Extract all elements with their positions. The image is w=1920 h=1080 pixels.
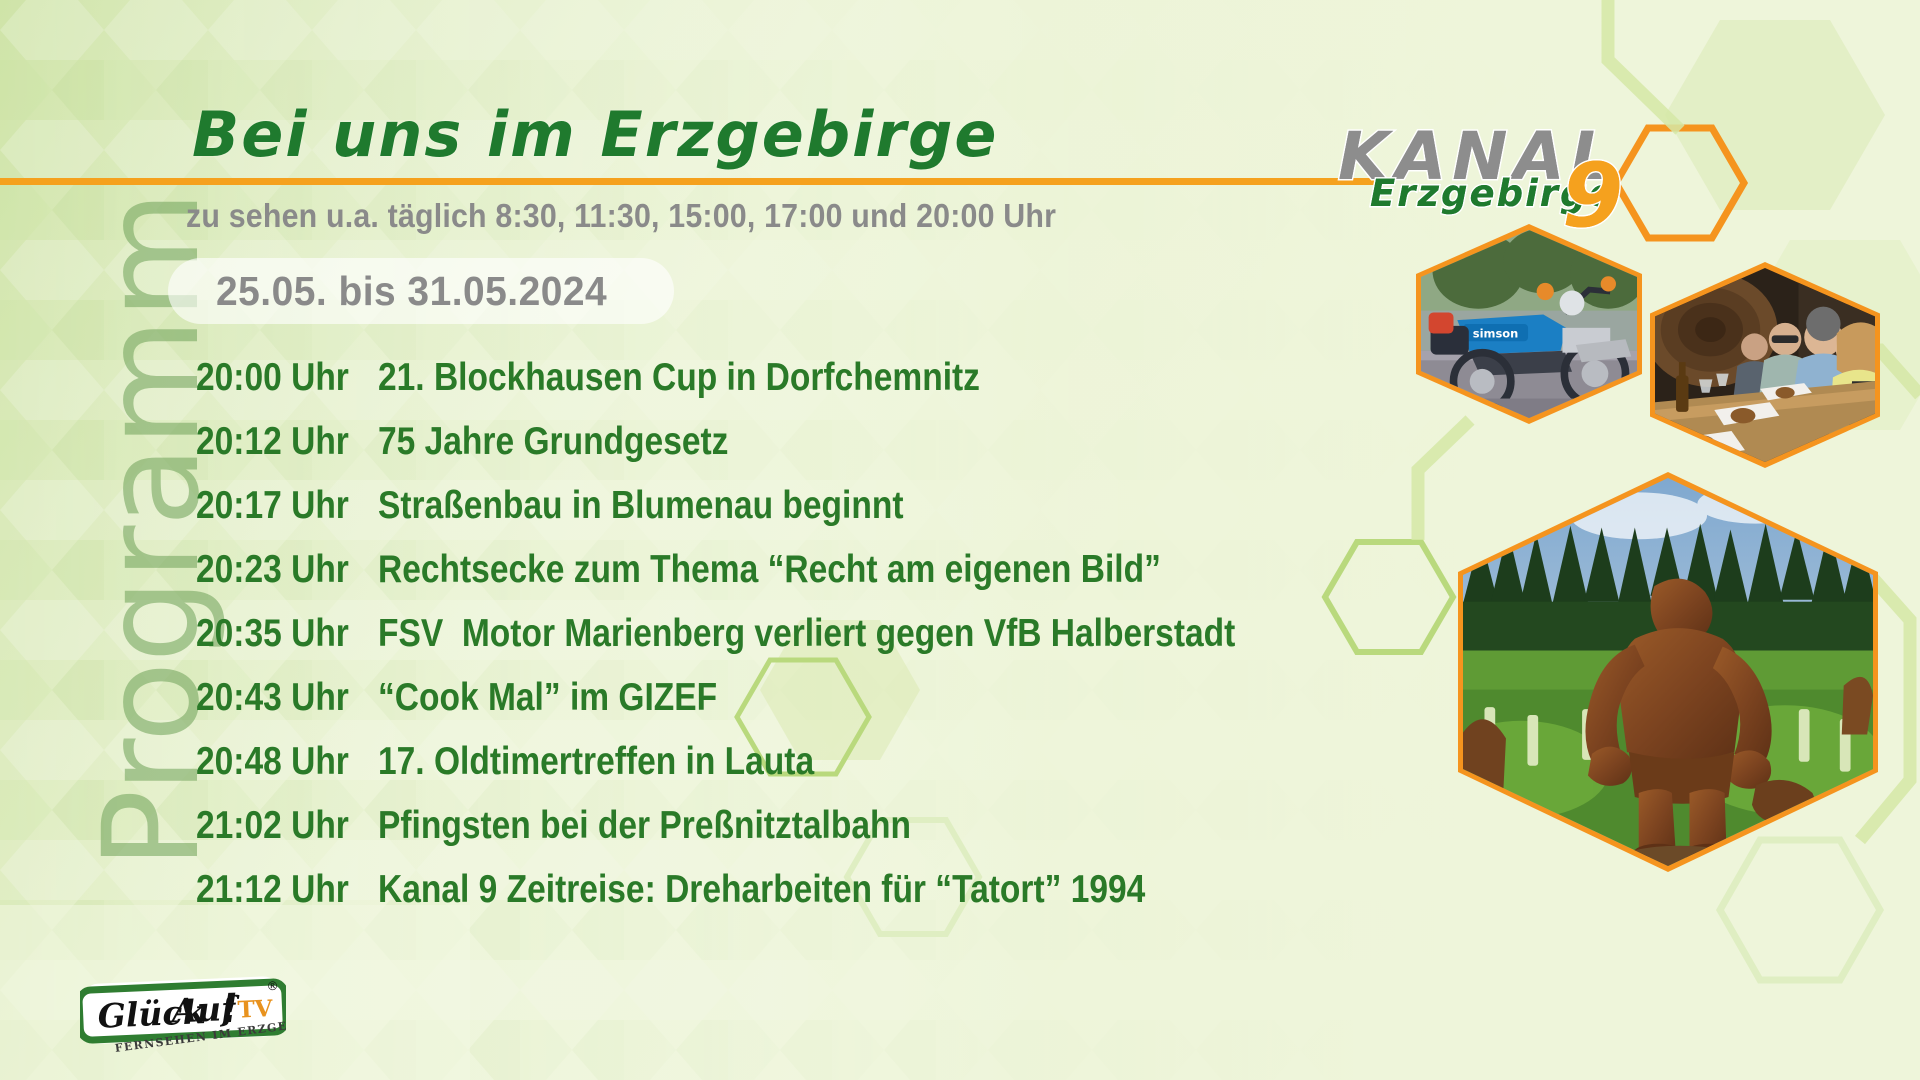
date-range-badge: 25.05. bis 31.05.2024 bbox=[168, 258, 674, 324]
page-title: Bei uns im Erzgebirge bbox=[192, 98, 998, 171]
program-time: 20:00 Uhr bbox=[196, 356, 353, 400]
program-row: 20:23 Uhr Rechtsecke zum Thema “Recht am… bbox=[196, 548, 1336, 612]
program-title: Pfingsten bei der Preßnitztalbahn bbox=[378, 804, 911, 848]
program-time: 20:35 Uhr bbox=[196, 612, 353, 656]
program-title: Straßenbau in Blumenau beginnt bbox=[378, 484, 904, 528]
program-row: 20:12 Uhr 75 Jahre Grundgesetz bbox=[196, 420, 1336, 484]
program-time: 20:12 Uhr bbox=[196, 420, 353, 464]
program-row: 20:00 Uhr 21. Blockhausen Cup in Dorfche… bbox=[196, 356, 1336, 420]
program-title: 17. Oldtimertreffen in Lauta bbox=[378, 740, 814, 784]
dinner-photo bbox=[1650, 262, 1880, 468]
program-time: 20:43 Uhr bbox=[196, 676, 353, 720]
program-title: Rechtsecke zum Thema “Recht am eigenen B… bbox=[378, 548, 1161, 592]
program-title: 75 Jahre Grundgesetz bbox=[378, 420, 728, 464]
header-divider-rule bbox=[0, 178, 1390, 185]
kanal9-logo: KANAL KANAL Erzgebirge Erzgebirge 9 9 bbox=[1338, 118, 1638, 228]
troll-photo bbox=[1458, 472, 1878, 872]
program-row: 20:43 Uhr “Cook Mal” im GIZEF bbox=[196, 676, 1336, 740]
glueckauf-tv-logo: Glück Auf ! TV ® FERNSEHEN IM ERZGEBIRGE bbox=[80, 972, 286, 1068]
program-row: 21:02 Uhr Pfingsten bei der Preßnitztalb… bbox=[196, 804, 1336, 868]
program-row: 20:48 Uhr 17. Oldtimertreffen in Lauta bbox=[196, 740, 1336, 804]
program-row: 20:17 Uhr Straßenbau in Blumenau beginnt bbox=[196, 484, 1336, 548]
broadcast-times-subtitle: zu sehen u.a. täglich 8:30, 11:30, 15:00… bbox=[186, 197, 1056, 235]
hex-photo-inner bbox=[1463, 478, 1873, 866]
program-time: 20:17 Uhr bbox=[196, 484, 353, 528]
moped-photo: simson bbox=[1416, 224, 1642, 424]
program-title: 21. Blockhausen Cup in Dorfchemnitz bbox=[378, 356, 980, 400]
program-time: 21:02 Uhr bbox=[196, 804, 353, 848]
program-title: FSV Motor Marienberg verliert gegen VfB … bbox=[378, 612, 1235, 656]
date-range-text: 25.05. bis 31.05.2024 bbox=[216, 268, 607, 315]
program-row: 20:35 Uhr FSV Motor Marienberg verliert … bbox=[196, 612, 1336, 676]
tv-mark: TV bbox=[237, 995, 274, 1024]
program-title: “Cook Mal” im GIZEF bbox=[378, 676, 717, 720]
svg-text:simson: simson bbox=[1473, 326, 1519, 340]
registered-mark: ® bbox=[266, 979, 279, 994]
program-row: 21:12 Uhr Kanal 9 Zeitreise: Dreharbeite… bbox=[196, 868, 1336, 932]
program-title: Kanal 9 Zeitreise: Dreharbeiten für “Tat… bbox=[378, 868, 1145, 912]
program-time: 20:48 Uhr bbox=[196, 740, 353, 784]
program-schedule-list: 20:00 Uhr 21. Blockhausen Cup in Dorfche… bbox=[196, 356, 1336, 932]
program-time: 21:12 Uhr bbox=[196, 868, 353, 912]
program-time: 20:23 Uhr bbox=[196, 548, 353, 592]
